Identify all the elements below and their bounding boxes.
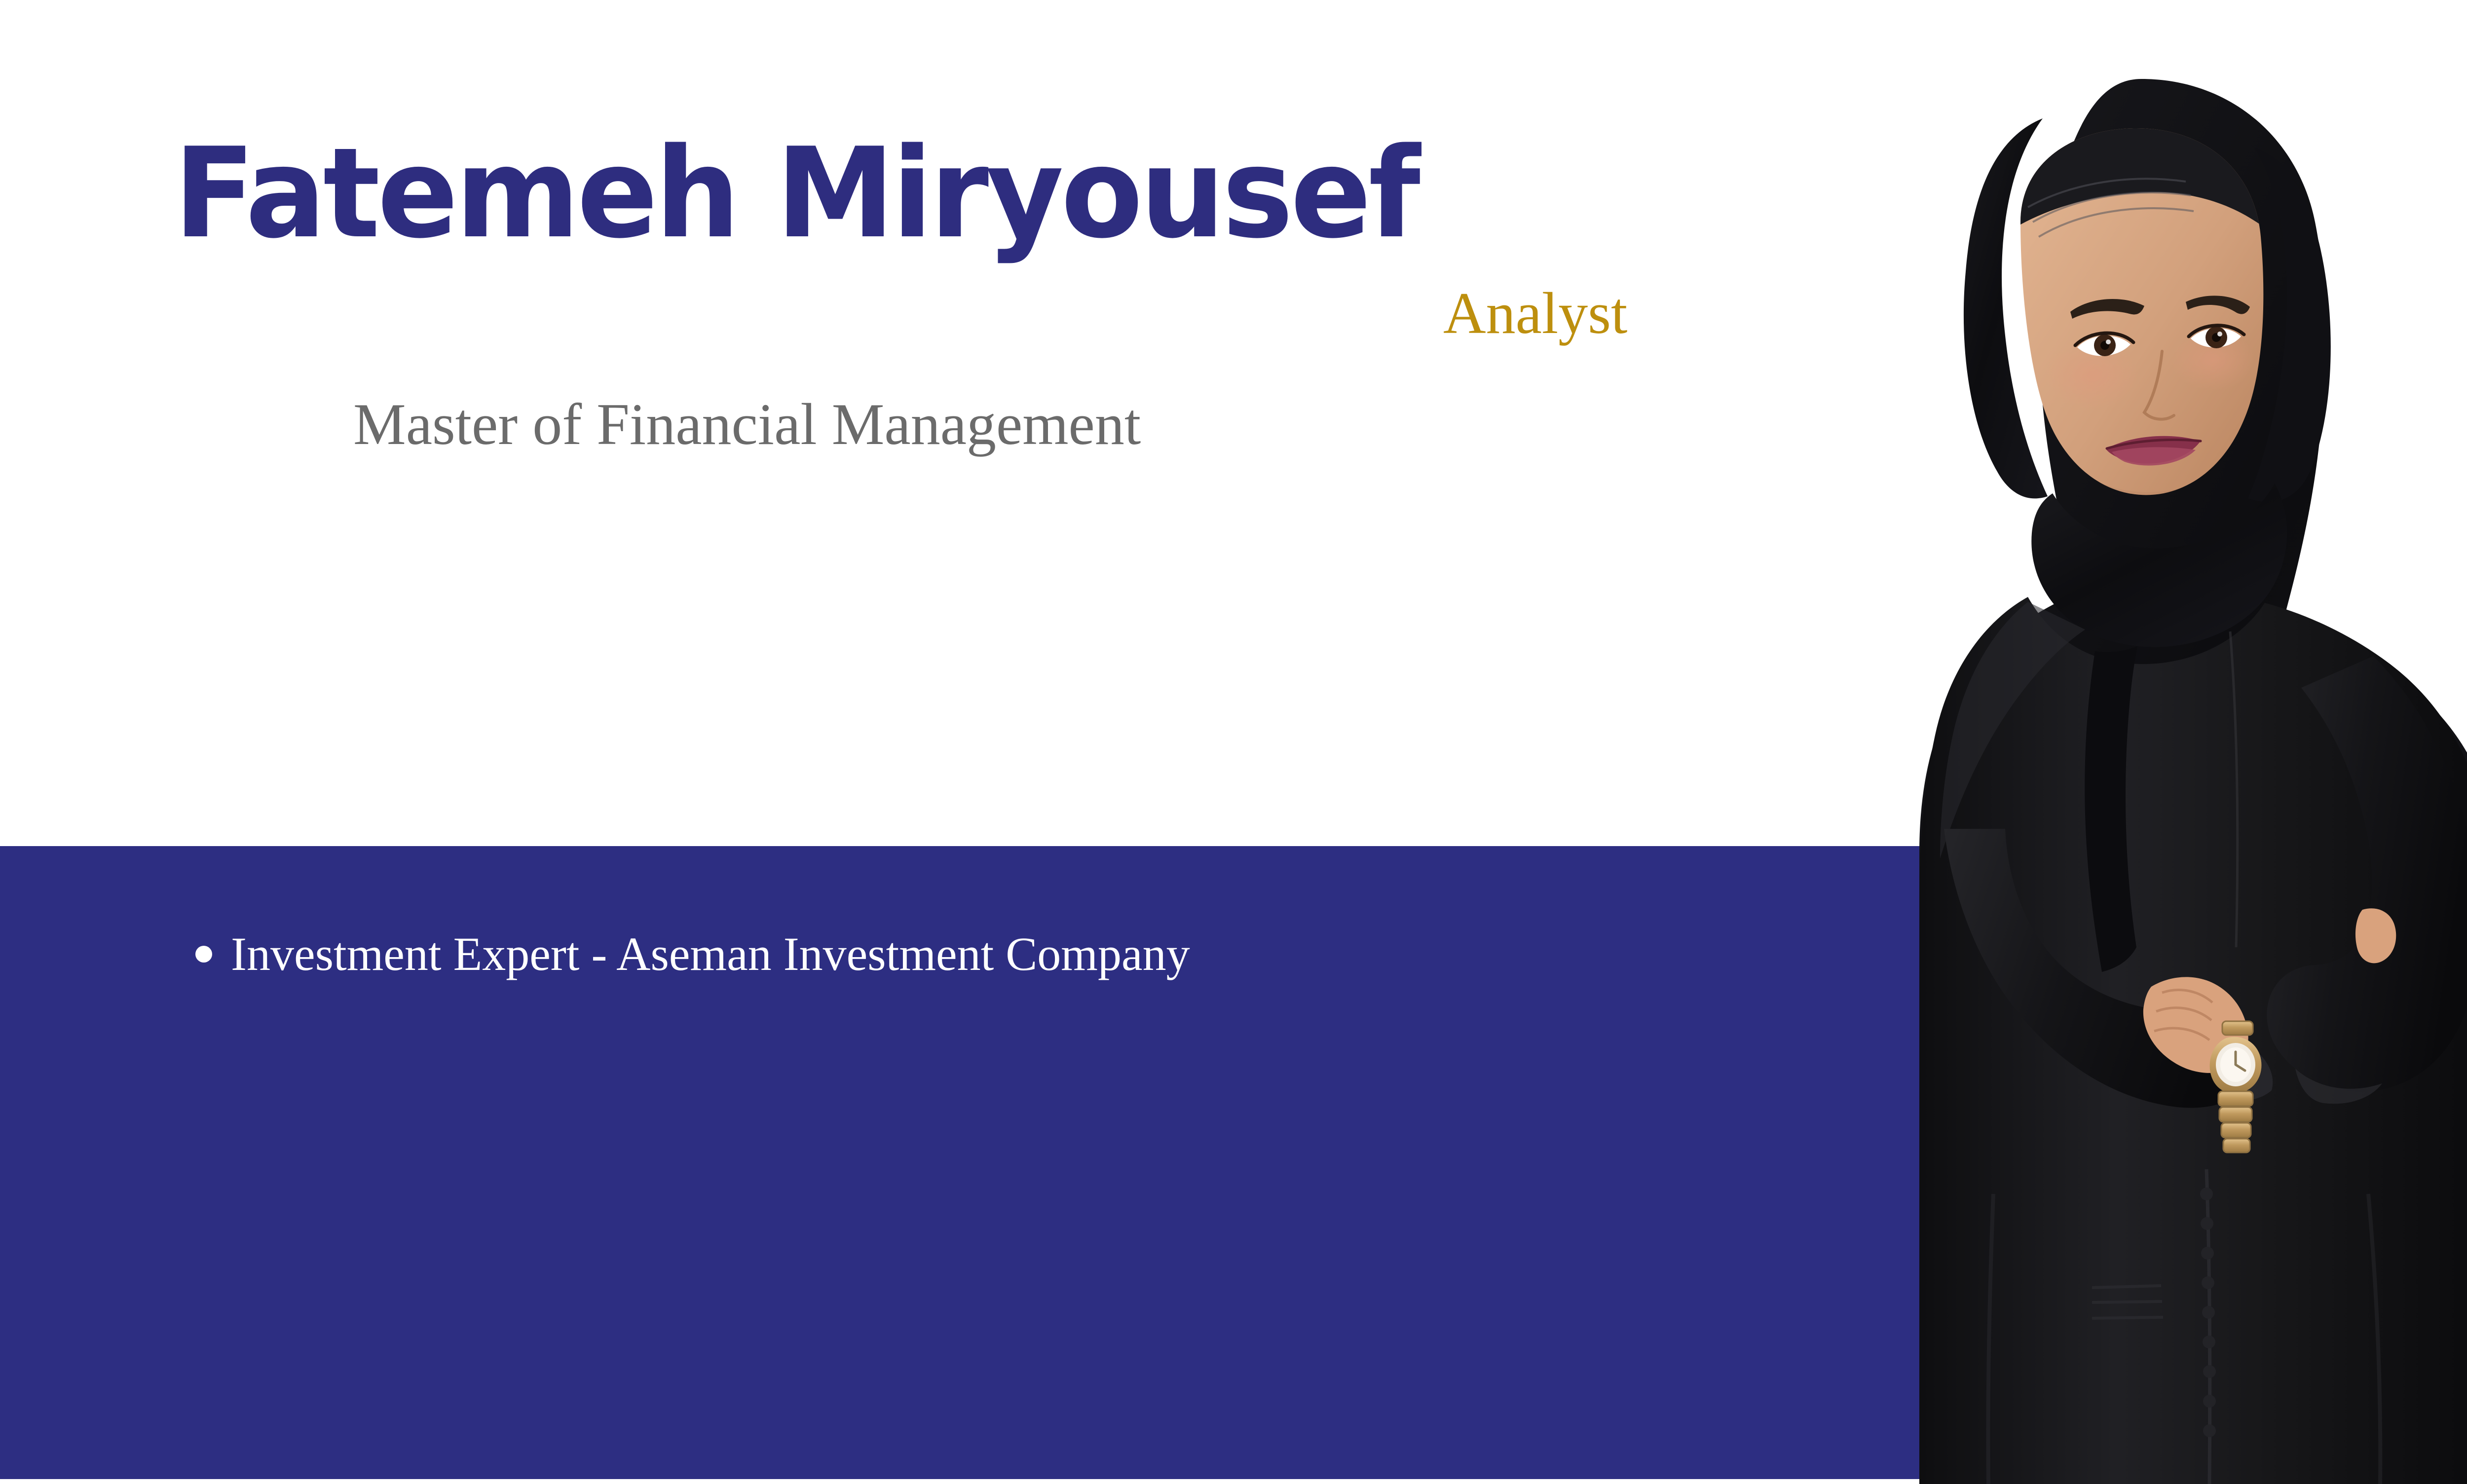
slide-canvas: Fatemeh Miryousef Analyst Master of Fina… — [0, 0, 2467, 1484]
role-subtitle: Analyst — [1443, 284, 1627, 343]
experience-list: Investment Expert - Aseman Investment Co… — [195, 927, 1774, 1001]
experience-item-label: Investment Expert - Aseman Investment Co… — [231, 927, 1190, 981]
degree-subtitle: Master of Financial Management — [353, 395, 1141, 454]
list-item: Investment Expert - Aseman Investment Co… — [195, 927, 1774, 981]
portrait-photo — [1796, 59, 2467, 1484]
filled-circle-icon — [195, 946, 212, 963]
page-title: Fatemeh Miryousef — [174, 132, 1418, 256]
